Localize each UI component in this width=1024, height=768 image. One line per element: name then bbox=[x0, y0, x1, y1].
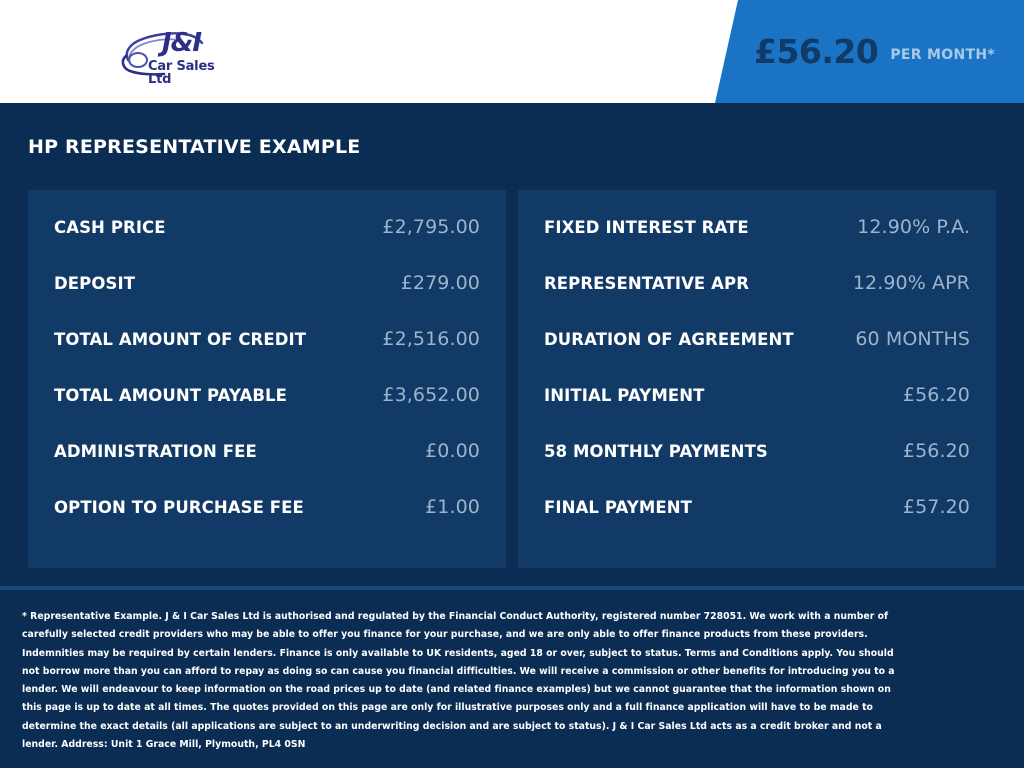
row-label: DEPOSIT bbox=[54, 274, 135, 293]
table-row: TOTAL AMOUNT PAYABLE£3,652.00 bbox=[54, 384, 480, 440]
row-label: REPRESENTATIVE APR bbox=[544, 274, 749, 293]
monthly-price-banner: £56.20 PER MONTH* bbox=[694, 0, 1024, 103]
table-row: REPRESENTATIVE APR12.90% APR bbox=[544, 272, 970, 328]
row-label: TOTAL AMOUNT OF CREDIT bbox=[54, 330, 306, 349]
row-value: 12.90% P.A. bbox=[857, 216, 970, 238]
row-value: £1.00 bbox=[425, 496, 480, 518]
page-title: HP REPRESENTATIVE EXAMPLE bbox=[28, 136, 360, 158]
table-row: INITIAL PAYMENT£56.20 bbox=[544, 384, 970, 440]
row-value: £279.00 bbox=[401, 272, 480, 294]
table-row: FINAL PAYMENT£57.20 bbox=[544, 496, 970, 552]
row-value: 60 MONTHS bbox=[855, 328, 970, 350]
row-label: FIXED INTEREST RATE bbox=[544, 218, 749, 237]
page-header: J&I Car Sales Ltd £56.20 PER MONTH* bbox=[0, 0, 1024, 103]
row-value: 12.90% APR bbox=[853, 272, 970, 294]
row-value: £56.20 bbox=[903, 440, 970, 462]
row-value: £3,652.00 bbox=[382, 384, 480, 406]
table-row: CASH PRICE£2,795.00 bbox=[54, 216, 480, 272]
row-label: DURATION OF AGREEMENT bbox=[544, 330, 794, 349]
row-value: £57.20 bbox=[903, 496, 970, 518]
table-row: FIXED INTEREST RATE12.90% P.A. bbox=[544, 216, 970, 272]
row-label: CASH PRICE bbox=[54, 218, 166, 237]
page-footer: * Representative Example. J & I Car Sale… bbox=[0, 590, 1024, 768]
finance-example-page: J&I Car Sales Ltd £56.20 PER MONTH* HP R… bbox=[0, 0, 1024, 768]
disclaimer-text: * Representative Example. J & I Car Sale… bbox=[22, 608, 910, 754]
row-label: INITIAL PAYMENT bbox=[544, 386, 704, 405]
table-row: OPTION TO PURCHASE FEE£1.00 bbox=[54, 496, 480, 552]
row-value: £56.20 bbox=[903, 384, 970, 406]
table-row: DEPOSIT£279.00 bbox=[54, 272, 480, 328]
row-label: OPTION TO PURCHASE FEE bbox=[54, 498, 304, 517]
table-row: ADMINISTRATION FEE£0.00 bbox=[54, 440, 480, 496]
terms-panel: FIXED INTEREST RATE12.90% P.A.REPRESENTA… bbox=[518, 190, 996, 568]
logo-brand-text: J&I bbox=[162, 30, 201, 56]
company-logo[interactable]: J&I Car Sales Ltd bbox=[118, 26, 242, 82]
logo-tagline-text: Car Sales Ltd bbox=[148, 60, 242, 86]
row-value: £2,516.00 bbox=[382, 328, 480, 350]
row-label: FINAL PAYMENT bbox=[544, 498, 692, 517]
table-row: DURATION OF AGREEMENT60 MONTHS bbox=[544, 328, 970, 384]
row-label: 58 MONTHLY PAYMENTS bbox=[544, 442, 768, 461]
monthly-price-period: PER MONTH* bbox=[890, 42, 995, 62]
monthly-price-amount: £56.20 bbox=[754, 35, 878, 68]
row-label: TOTAL AMOUNT PAYABLE bbox=[54, 386, 287, 405]
table-row: 58 MONTHLY PAYMENTS£56.20 bbox=[544, 440, 970, 496]
cost-summary-panel: CASH PRICE£2,795.00DEPOSIT£279.00TOTAL A… bbox=[28, 190, 506, 568]
table-row: TOTAL AMOUNT OF CREDIT£2,516.00 bbox=[54, 328, 480, 384]
row-value: £0.00 bbox=[425, 440, 480, 462]
row-value: £2,795.00 bbox=[382, 216, 480, 238]
row-label: ADMINISTRATION FEE bbox=[54, 442, 257, 461]
